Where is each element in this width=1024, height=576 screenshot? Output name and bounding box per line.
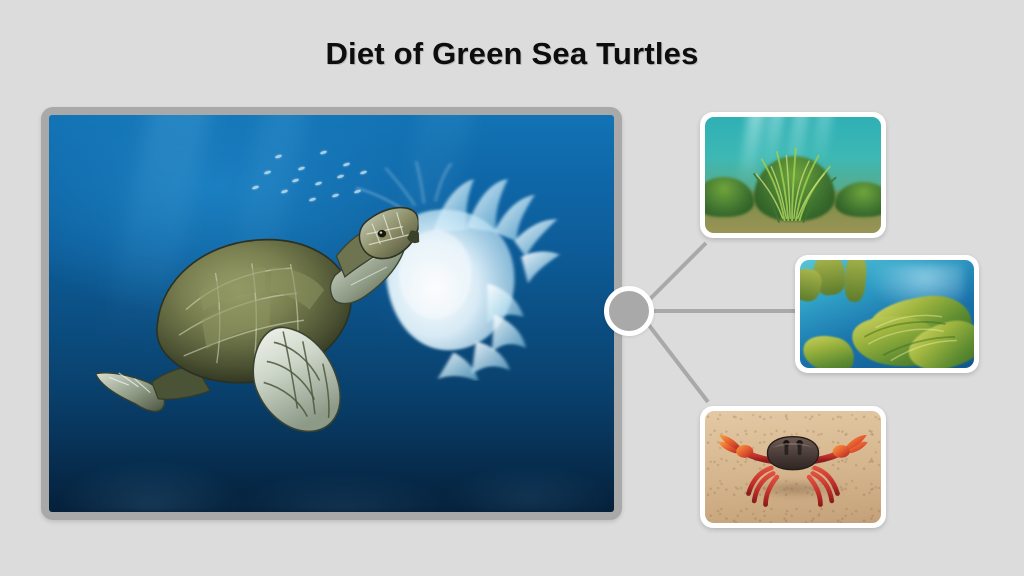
diet-hub-node[interactable] [604,286,654,336]
thumbnail-kelp[interactable] [795,255,979,373]
fish-icon [337,174,345,179]
crab-illustration [705,411,881,523]
fish-icon [343,162,351,167]
hero-photo-turtle-jellyfish [49,115,614,512]
fish-icon [314,181,322,186]
thumbnail-crab-photo [705,411,881,523]
seagrass-blades [705,117,881,233]
thumbnail-crab[interactable] [700,406,886,528]
fish-icon [320,150,328,155]
thumbnail-seagrass-photo [705,117,881,233]
page-title: Diet of Green Sea Turtles [0,36,1024,72]
hero-image-frame [41,107,622,520]
thumbnail-seagrass[interactable] [700,112,886,238]
connector-to-crab [648,324,708,402]
thumbnail-kelp-photo [800,260,974,368]
connector-to-seagrass [649,243,706,300]
kelp-blade-detail [800,260,974,368]
sea-turtle-illustration [90,189,427,462]
fish-icon [297,166,305,171]
